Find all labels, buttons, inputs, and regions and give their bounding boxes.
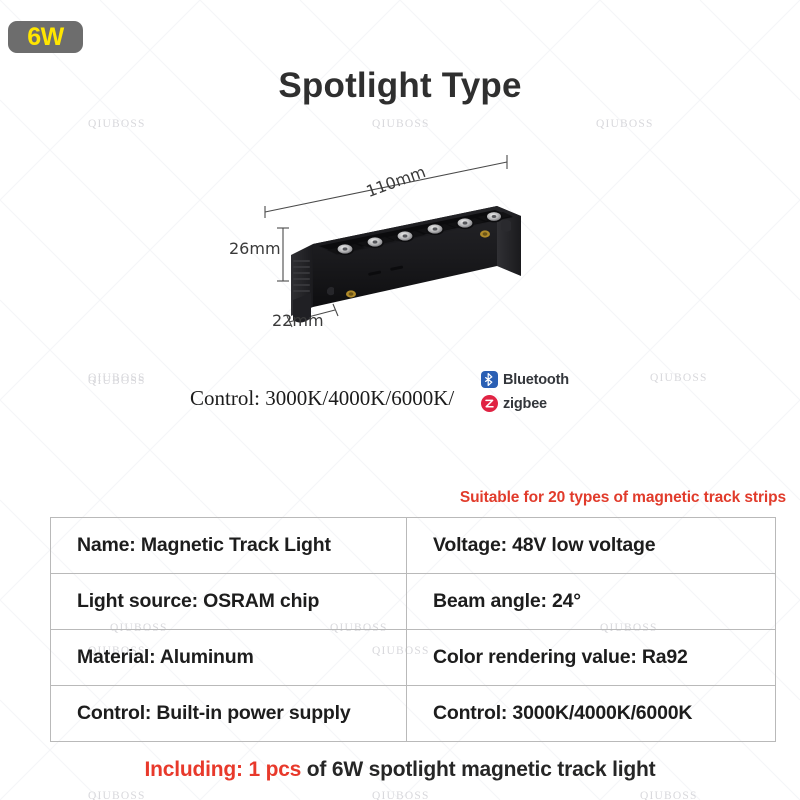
spec-cell-beam-angle: Beam angle: 24° [407, 574, 776, 630]
bluetooth-icon [481, 371, 498, 388]
spec-cell-control-cct: Control: 3000K/4000K/6000K [407, 686, 776, 742]
package-contents-rest: of 6W spotlight magnetic track light [301, 758, 655, 781]
zigbee-label: zigbee [503, 396, 547, 412]
spec-cell-color-rendering: Color rendering value: Ra92 [407, 630, 776, 686]
zigbee-icon [481, 395, 498, 412]
bluetooth-rune-icon [485, 373, 494, 386]
specification-table: Name: Magnetic Track Light Voltage: 48V … [50, 517, 776, 742]
control-temperature-text: Control: 3000K/4000K/6000K/ [190, 386, 454, 411]
zigbee-z-icon [484, 398, 495, 409]
table-row: Control: Built-in power supply Control: … [51, 686, 776, 742]
product-illustration: 110mm 26mm 22mm [235, 150, 555, 350]
suitability-note: Suitable for 20 types of magnetic track … [0, 489, 786, 507]
spec-cell-voltage: Voltage: 48V low voltage [407, 518, 776, 574]
dimension-label-depth: 22mm [272, 311, 324, 330]
page-title: Spotlight Type [0, 66, 800, 106]
bluetooth-label: Bluetooth [503, 372, 569, 388]
power-badge-label: 6W [27, 25, 64, 50]
table-row: Material: Aluminum Color rendering value… [51, 630, 776, 686]
zigbee-logo-row: zigbee [481, 395, 601, 412]
package-contents-highlight: Including: 1 pcs [145, 758, 302, 781]
table-row: Light source: OSRAM chip Beam angle: 24° [51, 574, 776, 630]
dimension-label-height: 26mm [229, 239, 281, 258]
spec-cell-control-power: Control: Built-in power supply [51, 686, 407, 742]
specification-table-body: Name: Magnetic Track Light Voltage: 48V … [51, 518, 776, 742]
power-badge: 6W [8, 21, 83, 53]
spec-cell-name: Name: Magnetic Track Light [51, 518, 407, 574]
table-row: Name: Magnetic Track Light Voltage: 48V … [51, 518, 776, 574]
package-contents-line: Including: 1 pcs of 6W spotlight magneti… [0, 758, 800, 782]
spec-cell-light-source: Light source: OSRAM chip [51, 574, 407, 630]
bluetooth-logo-row: Bluetooth [481, 371, 601, 388]
infographic-page: 6W Spotlight Type [0, 0, 800, 800]
spec-cell-material: Material: Aluminum [51, 630, 407, 686]
wireless-logo-stack: Bluetooth zigbee [481, 371, 601, 419]
